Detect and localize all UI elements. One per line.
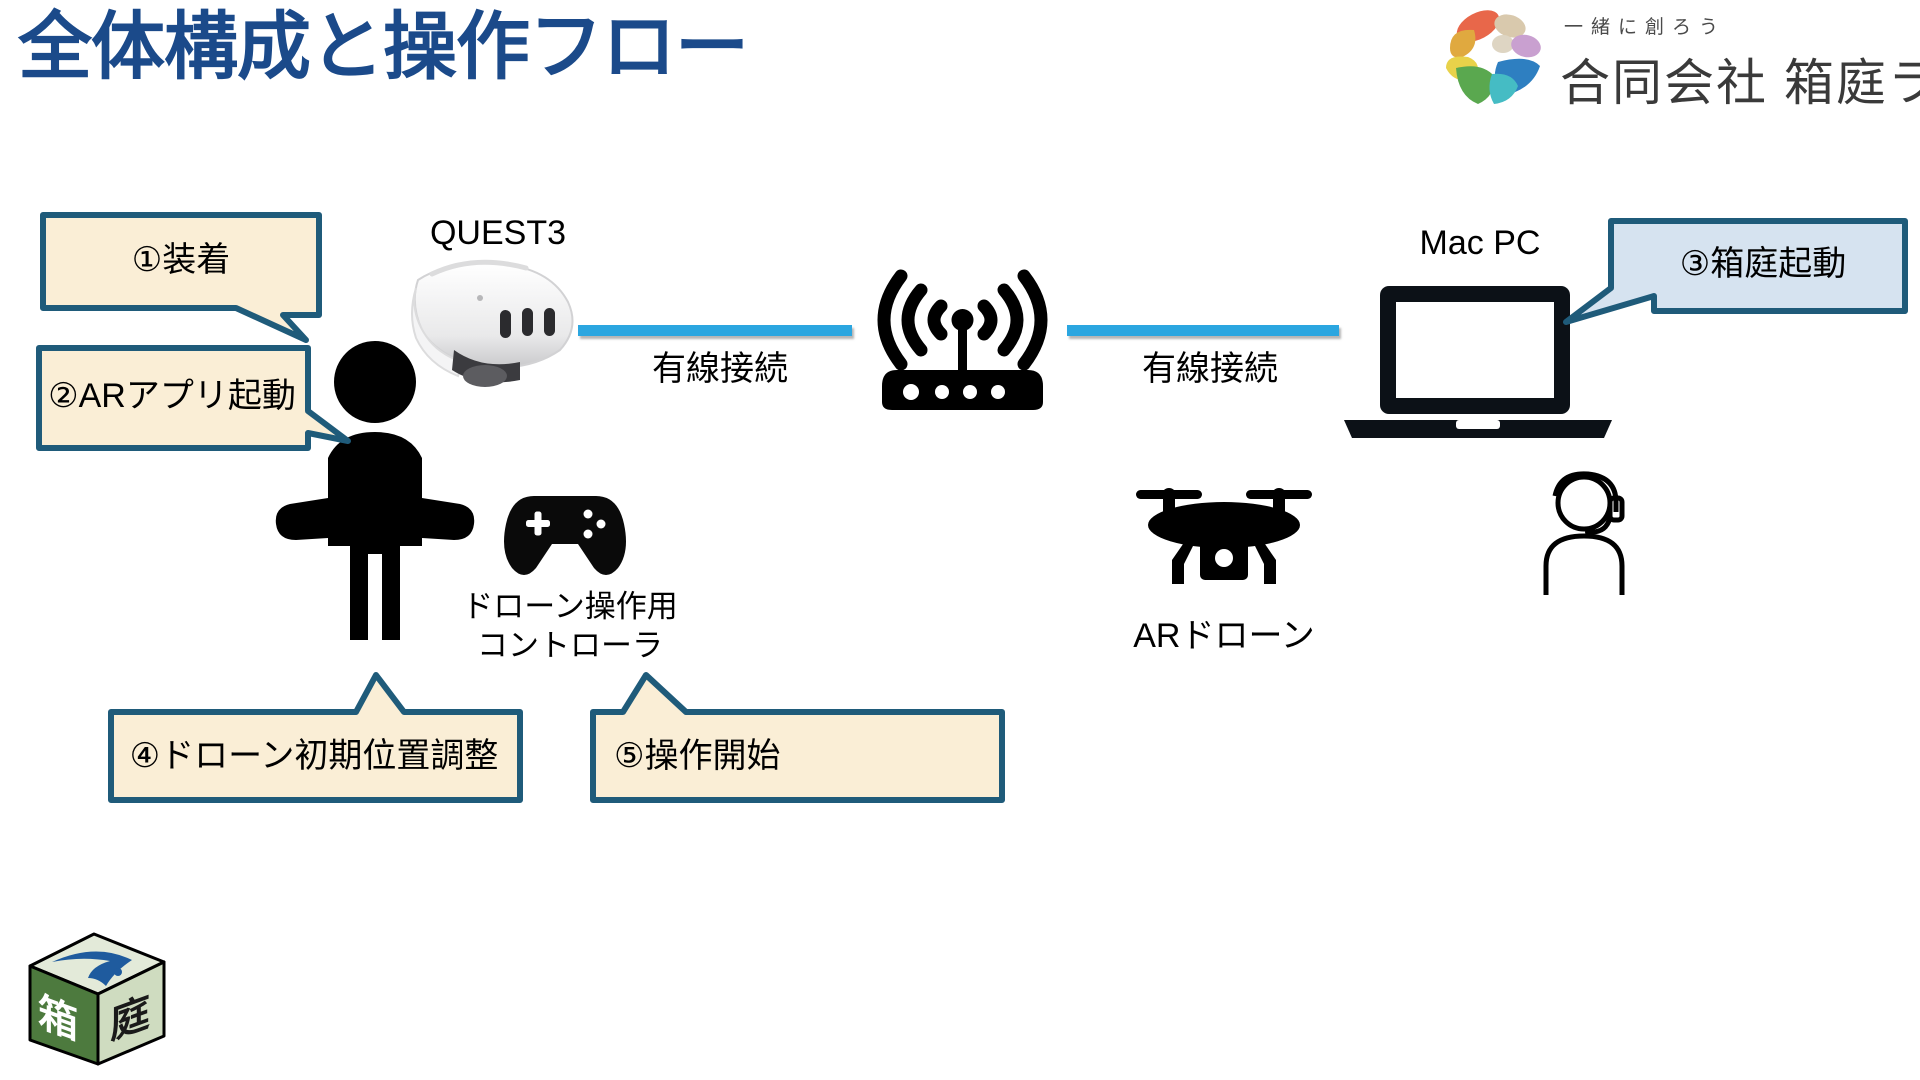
mac-pc-label: Mac PC: [1380, 222, 1580, 265]
router-icon: [875, 240, 1050, 415]
cable-right: [1067, 325, 1339, 336]
quest3-label: QUEST3: [408, 212, 588, 255]
callout-3-start-hakoniwa[interactable]: ③箱庭起動: [1608, 218, 1908, 328]
callout-4-label: ④ドローン初期位置調整: [108, 712, 520, 800]
cable-left: [578, 325, 852, 336]
callout-2-label: ②ARアプリ起動: [36, 345, 308, 448]
callout-3-label: ③箱庭起動: [1618, 218, 1908, 311]
callout-1-equip[interactable]: ①装着: [40, 212, 322, 312]
cable-right-label: 有線接続: [1100, 348, 1320, 391]
controller-label: ドローン操作用 コントローラ: [455, 588, 685, 666]
page-title: 全体構成と操作フロー: [18, 6, 748, 87]
controller-label-line-2: コントローラ: [455, 627, 685, 666]
hakoniwa-lab-flower-mark: [1440, 10, 1550, 108]
corporate-name: 合同会社 箱庭ラボ: [1560, 43, 1920, 115]
cable-left-label: 有線接続: [610, 348, 830, 391]
ar-drone-label: ARドローン: [1114, 615, 1334, 658]
gamepad-icon: [500, 490, 630, 580]
callout-2-launch-ar-app[interactable]: ②ARアプリ起動: [36, 345, 326, 455]
laptop-icon: [1338, 272, 1618, 442]
controller-label-line-1: ドローン操作用: [455, 588, 685, 627]
hakoniwa-cube-logo: 箱 庭: [22, 930, 172, 1070]
callout-4-drone-initial-position[interactable]: ④ドローン初期位置調整: [108, 672, 528, 802]
callout-5-label: ⑤操作開始: [614, 712, 780, 800]
corporate-tagline: 一緒に創ろう: [1564, 12, 1920, 39]
slide-canvas: 全体構成と操作フロー 一緒に創ろう 合同会社 箱庭ラボ ①装着 ②ARア: [0, 0, 1920, 1080]
callout-5-start-operation[interactable]: ⑤操作開始: [590, 672, 1010, 802]
headset-person-icon: [1536, 470, 1666, 600]
corporate-logo-text: 一緒に創ろう 合同会社 箱庭ラボ: [1560, 12, 1920, 115]
corporate-logo: 一緒に創ろう 合同会社 箱庭ラボ: [1430, 8, 1920, 108]
drone-icon: [1134, 478, 1314, 588]
callout-1-label: ①装着: [40, 212, 322, 308]
